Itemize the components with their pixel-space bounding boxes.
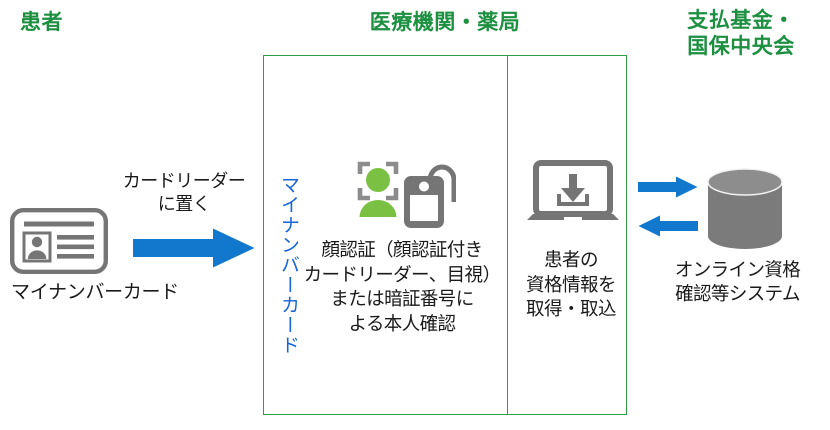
column-header-medical-facility: 医療機関・薬局	[263, 10, 627, 36]
acquire-eligibility-info-description: 患者の 資格情報を 取得・取込	[512, 248, 630, 322]
facility-box-divider	[507, 55, 508, 415]
column-header-payment-fund: 支払基金・ 国保中央会	[652, 8, 830, 61]
vertical-my-number-card-label: マイナンバーカード	[264, 160, 298, 370]
face-recognition-icon	[352, 158, 456, 230]
right-arrow-icon	[133, 228, 255, 268]
my-number-card-caption: マイナンバーカード	[0, 282, 190, 305]
id-card-icon	[10, 208, 108, 274]
database-cylinder-icon	[706, 168, 784, 250]
right-arrow-icon	[638, 176, 698, 198]
medical-facility-box	[263, 55, 627, 415]
left-arrow-icon	[638, 215, 698, 237]
column-header-patient: 患者	[20, 10, 140, 36]
face-authentication-description: 顔認証（顔認証付き カードリーダー、目視） または暗証番号に よる本人確認	[296, 238, 508, 336]
online-eligibility-system-caption: オンライン資格 確認等システム	[645, 258, 830, 307]
laptop-download-icon	[527, 160, 619, 228]
place-on-card-reader-label: カードリーダー に置く	[103, 170, 265, 217]
